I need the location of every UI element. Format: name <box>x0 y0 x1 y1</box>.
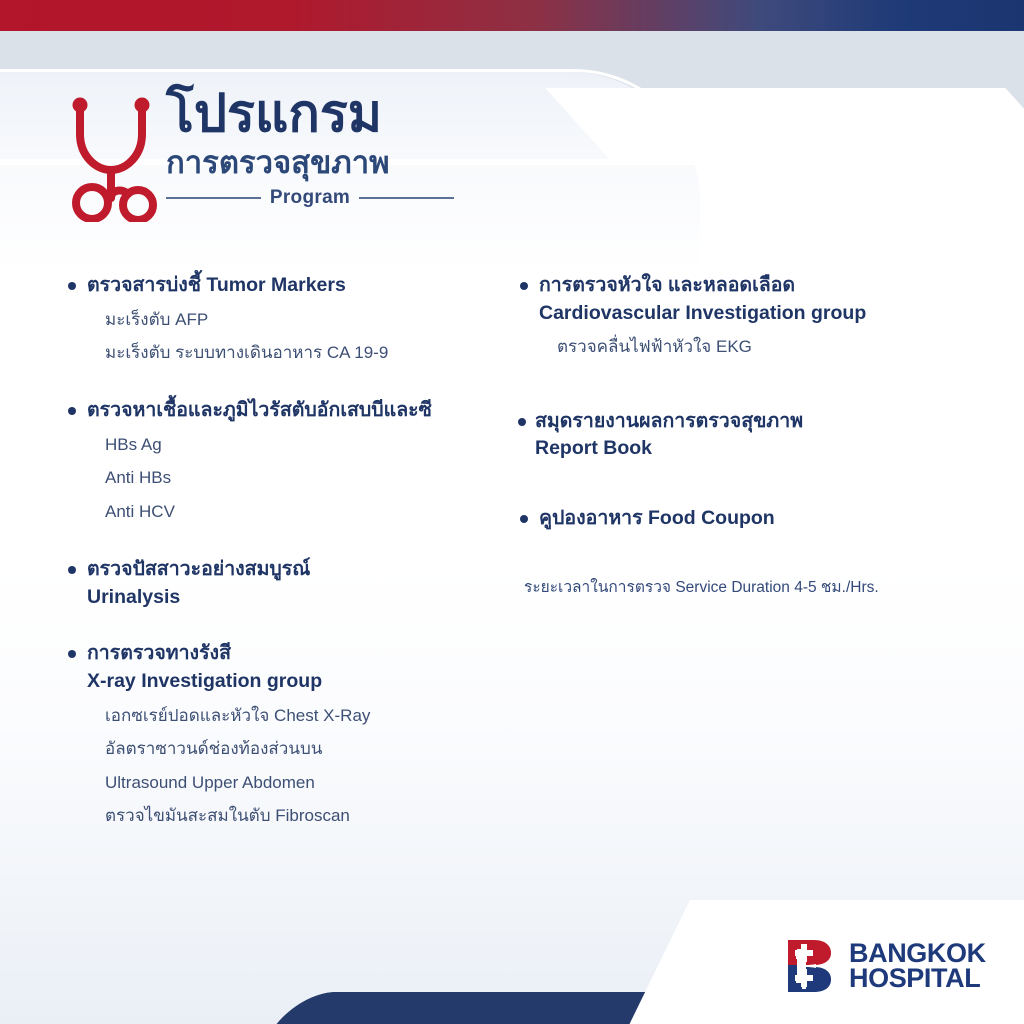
bullet-icon <box>68 282 76 290</box>
service-group-title-en: Report Book <box>535 435 938 463</box>
right-column: การตรวจหัวใจ และหลอดเลือด Cardiovascular… <box>518 272 938 598</box>
service-group: การตรวจทางรังสี X-ray Investigation grou… <box>66 640 496 829</box>
list-item: อัลตราซาวนด์ช่องท้องส่วนบน <box>105 736 496 762</box>
service-group-title-en: X-ray Investigation group <box>87 668 496 696</box>
list-item: Anti HBs <box>105 465 496 491</box>
service-group-title-th: ตรวจสารบ่งชี้ Tumor Markers <box>87 274 346 296</box>
service-group: ตรวจหาเชื้อและภูมิไวรัสตับอักเสบบีและซี … <box>66 397 496 525</box>
bullet-icon <box>68 407 76 415</box>
service-group-heading: การตรวจหัวใจ และหลอดเลือด Cardiovascular… <box>518 272 938 327</box>
service-group: การตรวจหัวใจ และหลอดเลือด Cardiovascular… <box>518 272 938 361</box>
page-title: โปรแกรม <box>166 88 486 140</box>
bullet-icon <box>68 566 76 574</box>
bangkok-hospital-logo: BANGKOK HOSPITAL <box>784 938 986 994</box>
program-label: Program <box>270 187 350 209</box>
service-group-heading: ตรวจสารบ่งชี้ Tumor Markers <box>66 272 496 300</box>
service-sub-list: เอกซเรย์ปอดและหัวใจ Chest X-Ray อัลตราซา… <box>66 703 496 829</box>
list-item: Ultrasound Upper Abdomen <box>105 770 496 796</box>
service-group-title-th: ตรวจหาเชื้อและภูมิไวรัสตับอักเสบบีและซี <box>87 399 432 421</box>
service-group-heading: ตรวจหาเชื้อและภูมิไวรัสตับอักเสบบีและซี <box>66 397 496 425</box>
list-item: ตรวจคลื่นไฟฟ้าหัวใจ EKG <box>557 334 938 360</box>
service-group-title-th: ตรวจปัสสาวะอย่างสมบูรณ์ <box>87 558 310 580</box>
list-item: มะเร็งตับ AFP <box>105 307 496 333</box>
service-group-title-th: คูปองอาหาร Food Coupon <box>539 507 775 529</box>
service-group: ตรวจปัสสาวะอย่างสมบูรณ์ Urinalysis <box>66 556 496 611</box>
bullet-icon <box>68 650 76 658</box>
top-gradient-bar <box>0 0 1024 31</box>
service-group-heading: สมุดรายงานผลการตรวจสุขภาพ Report Book <box>518 408 938 463</box>
list-item: ตรวจไขมันสะสมในตับ Fibroscan <box>105 803 496 829</box>
service-sub-list: HBs Ag Anti HBs Anti HCV <box>66 432 496 525</box>
left-column: ตรวจสารบ่งชี้ Tumor Markers มะเร็งตับ AF… <box>66 272 496 836</box>
list-item: Anti HCV <box>105 499 496 525</box>
service-sub-list: มะเร็งตับ AFP มะเร็งตับ ระบบทางเดินอาหาร… <box>66 307 496 367</box>
service-group-title-th: สมุดรายงานผลการตรวจสุขภาพ <box>535 410 803 432</box>
service-group-heading: การตรวจทางรังสี X-ray Investigation grou… <box>66 640 496 695</box>
service-group-title-th: การตรวจหัวใจ และหลอดเลือด <box>539 274 795 296</box>
header-white-wedge <box>545 88 1024 162</box>
service-duration-note: ระยะเวลาในการตรวจ Service Duration 4-5 ช… <box>518 577 938 599</box>
page-header: โปรแกรม การตรวจสุขภาพ Program <box>66 86 486 226</box>
list-item: HBs Ag <box>105 432 496 458</box>
service-sub-list: ตรวจคลื่นไฟฟ้าหัวใจ EKG <box>518 334 938 360</box>
logo-wordmark: BANGKOK HOSPITAL <box>849 941 986 991</box>
divider-right <box>359 197 454 199</box>
stethoscope-icon <box>66 86 162 222</box>
service-group-title-en: Urinalysis <box>87 584 496 612</box>
service-group: ตรวจสารบ่งชี้ Tumor Markers มะเร็งตับ AF… <box>66 272 496 366</box>
bullet-icon <box>518 418 526 426</box>
poster-canvas: โปรแกรม การตรวจสุขภาพ Program ตรวจสารบ่ง… <box>0 0 1024 1024</box>
service-group: สมุดรายงานผลการตรวจสุขภาพ Report Book <box>518 408 938 463</box>
service-group-heading: คูปองอาหาร Food Coupon <box>518 505 938 533</box>
service-group-title-th: การตรวจทางรังสี <box>87 642 231 664</box>
logo-line-2: HOSPITAL <box>849 966 986 991</box>
page-subtitle: การตรวจสุขภาพ <box>166 146 486 180</box>
service-group: คูปองอาหาร Food Coupon <box>518 505 938 533</box>
bangkok-hospital-logo-icon <box>784 938 838 994</box>
bullet-icon <box>520 282 528 290</box>
program-divider-row: Program <box>166 187 454 209</box>
service-group-title-en: Cardiovascular Investigation group <box>539 300 938 328</box>
header-title-block: โปรแกรม การตรวจสุขภาพ Program <box>166 88 486 209</box>
service-group-heading: ตรวจปัสสาวะอย่างสมบูรณ์ Urinalysis <box>66 556 496 611</box>
divider-left <box>166 197 261 199</box>
bullet-icon <box>520 515 528 523</box>
list-item: มะเร็งตับ ระบบทางเดินอาหาร CA 19-9 <box>105 340 496 366</box>
list-item: เอกซเรย์ปอดและหัวใจ Chest X-Ray <box>105 703 496 729</box>
